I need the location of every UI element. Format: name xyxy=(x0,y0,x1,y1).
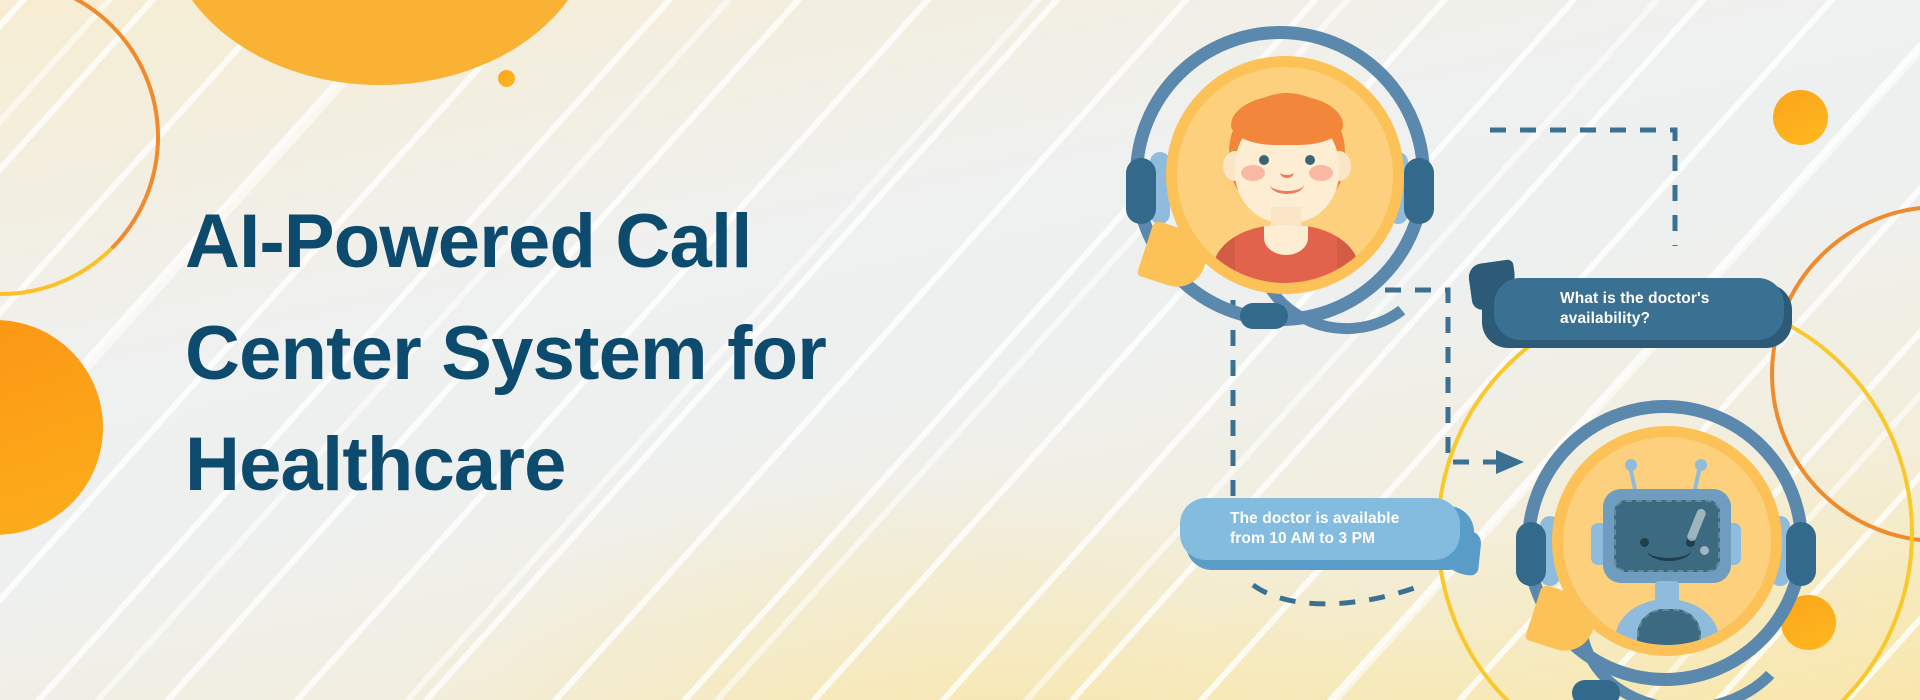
hair-fringe xyxy=(1231,95,1343,145)
antenna-ball-left xyxy=(1625,459,1637,471)
orange-dot-small xyxy=(498,70,515,87)
screen-glint-dot xyxy=(1700,546,1709,555)
robot-chest-panel xyxy=(1637,609,1701,645)
human-avatar-bubble xyxy=(1166,56,1404,294)
headset-earcup-right-robot xyxy=(1786,522,1816,586)
robot-avatar-bubble xyxy=(1552,426,1782,656)
headset-earcup-left xyxy=(1126,158,1156,224)
human-caller-avatar xyxy=(1120,20,1460,360)
amber-blob-top xyxy=(165,0,595,85)
headset-mic-tip-robot xyxy=(1572,680,1620,700)
shirt-shade-left xyxy=(1213,225,1235,283)
speech-bubble-question-text: What is the doctor's availability? xyxy=(1560,289,1762,330)
robot-head xyxy=(1603,489,1731,583)
shirt-shade-right xyxy=(1337,225,1359,283)
eye-right xyxy=(1305,155,1315,165)
torso-shirt xyxy=(1213,225,1359,283)
antenna-ball-right xyxy=(1695,459,1707,471)
cheek-left xyxy=(1241,165,1265,181)
robot-face-screen xyxy=(1614,500,1720,572)
robot-avatar-inner-circle xyxy=(1563,437,1771,645)
orange-dot-top-right xyxy=(1773,90,1828,145)
speech-bubble-answer-text: The doctor is available from 10 AM to 3 … xyxy=(1230,509,1434,550)
page-title: AI-Powered Call Center System for Health… xyxy=(185,186,945,521)
eye-left xyxy=(1259,155,1269,165)
orange-circle-left xyxy=(0,320,103,535)
shirt-collar xyxy=(1264,225,1308,255)
hero-banner: What is the doctor's availability? The d… xyxy=(0,0,1920,700)
mouth xyxy=(1270,175,1304,194)
human-avatar-inner-circle xyxy=(1177,67,1393,283)
screen-glint xyxy=(1686,508,1707,543)
speech-bubble-answer: The doctor is available from 10 AM to 3 … xyxy=(1180,498,1460,560)
speech-bubble-question: What is the doctor's availability? xyxy=(1494,278,1784,340)
orange-ring-left xyxy=(0,0,160,296)
headset-mic-tip-human xyxy=(1240,303,1288,329)
ai-robot-avatar xyxy=(1510,396,1840,700)
headset-earcup-left-robot xyxy=(1516,522,1546,586)
cheek-right xyxy=(1309,165,1333,181)
robot-smile xyxy=(1647,540,1691,561)
